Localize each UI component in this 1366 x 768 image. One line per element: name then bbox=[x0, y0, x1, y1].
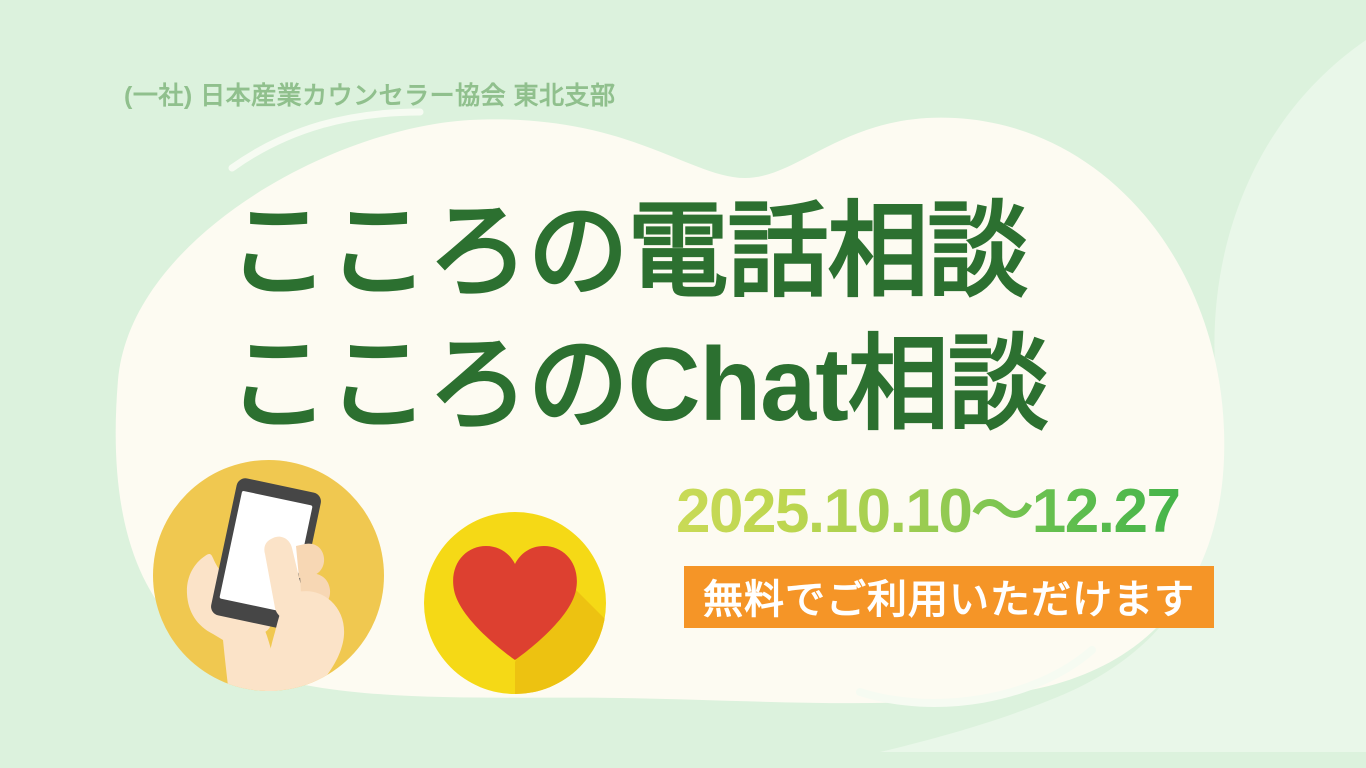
organisation-name: (一社) 日本産業カウンセラー協会 東北支部 bbox=[124, 76, 616, 112]
free-of-charge-badge: 無料でご利用いただけます bbox=[684, 566, 1214, 628]
hand-holding-smartphone-icon bbox=[153, 460, 384, 691]
cream-arc-accent-bottom bbox=[860, 650, 1092, 703]
heart-icon bbox=[424, 512, 606, 694]
page-title: こころの電話相談 こころのChat相談 bbox=[228, 186, 1073, 452]
headline-line-phone: こころの電話相談 bbox=[228, 186, 1048, 319]
headline-line-chat: こころのChat相談 bbox=[228, 319, 1048, 452]
cream-arc-accent-top bbox=[232, 112, 420, 168]
date-range: 2025.10.10〜12.27 bbox=[676, 481, 1179, 543]
free-of-charge-label: 無料でご利用いただけます bbox=[703, 567, 1195, 625]
promotional-poster: (一社) 日本産業カウンセラー協会 東北支部 こころの電話相談 こころのChat… bbox=[0, 0, 1366, 768]
